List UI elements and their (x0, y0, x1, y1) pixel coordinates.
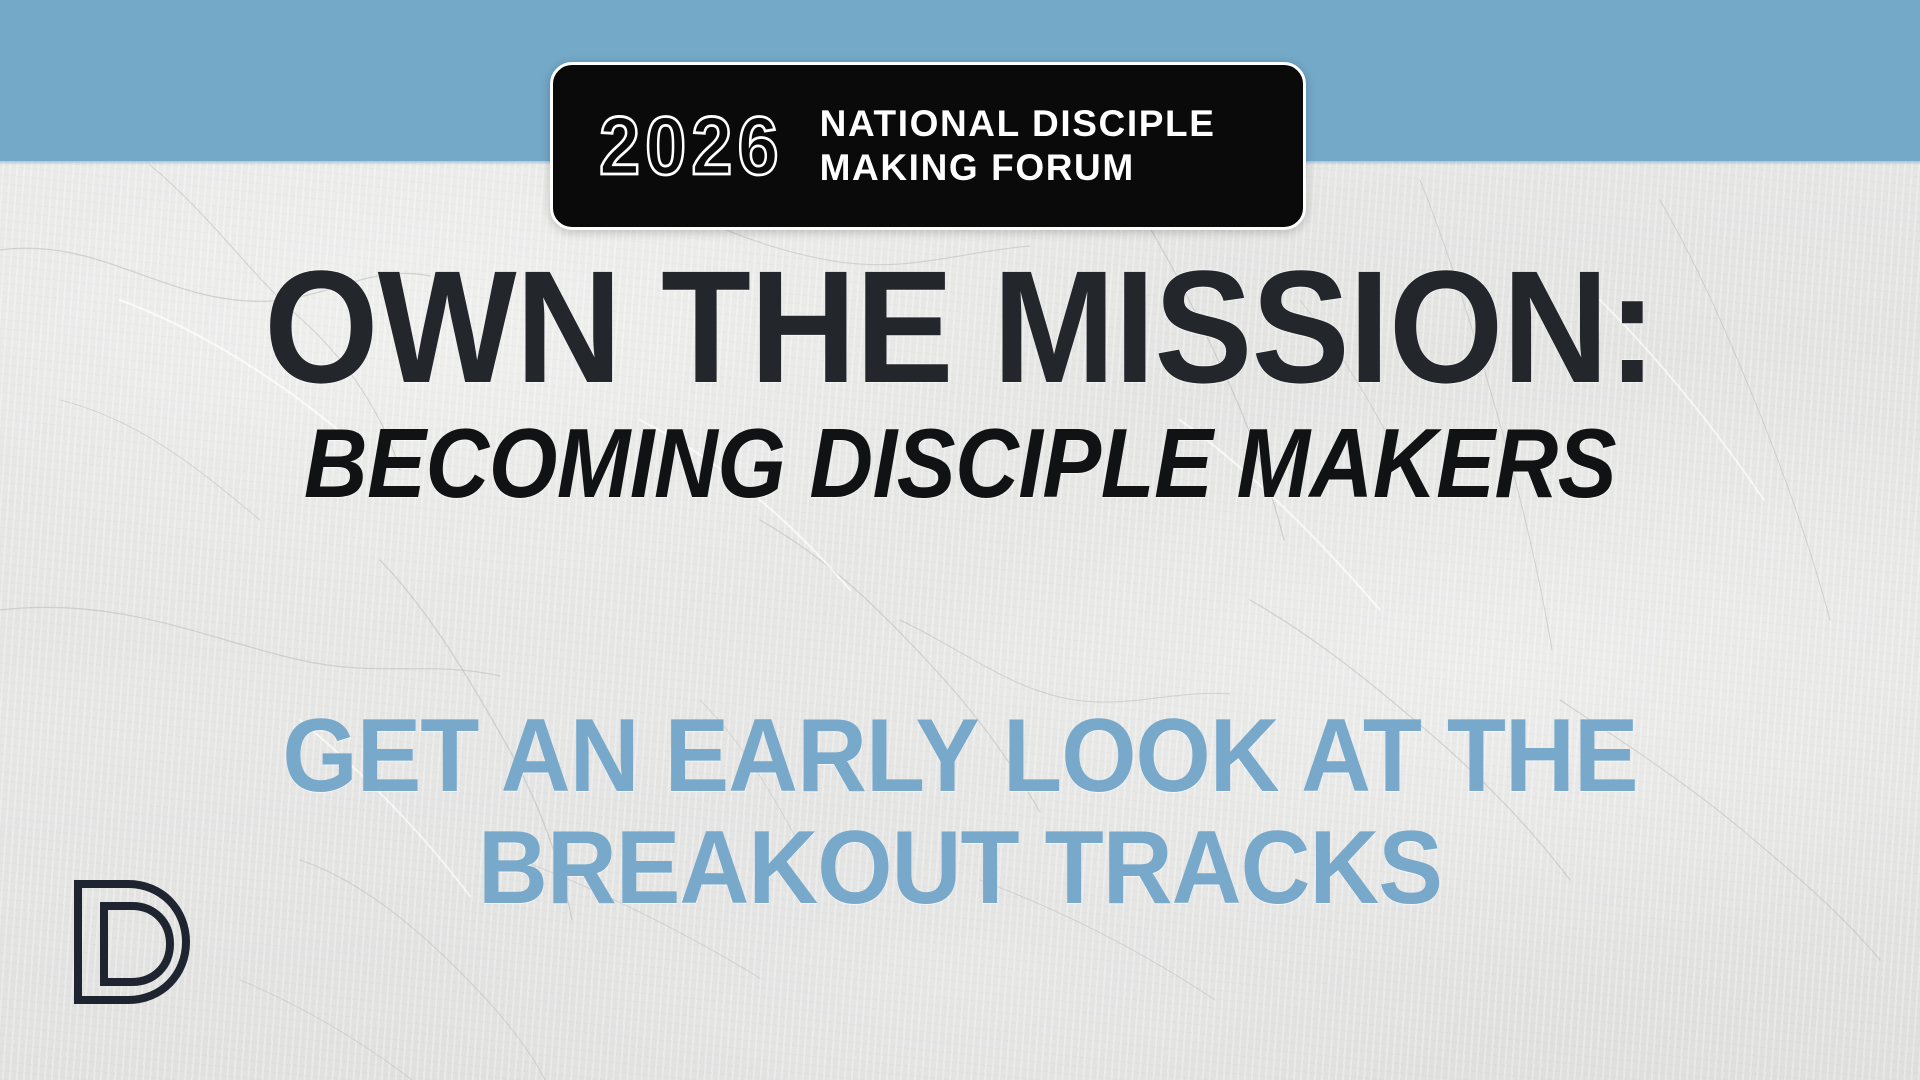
badge-event-name-line-2: MAKING FORUM (820, 146, 1216, 190)
cta-block: GET AN EARLY LOOK AT THE BREAKOUT TRACKS (0, 700, 1920, 925)
headline-main: OWN THE MISSION: (77, 250, 1843, 404)
headline-sub: BECOMING DISCIPLE MAKERS (96, 414, 1824, 512)
badge-event-name: NATIONAL DISCIPLE MAKING FORUM (820, 102, 1216, 189)
headline-block: OWN THE MISSION: BECOMING DISCIPLE MAKER… (0, 250, 1920, 512)
promo-poster: 2026 NATIONAL DISCIPLE MAKING FORUM OWN … (0, 0, 1920, 1080)
badge-event-name-line-1: NATIONAL DISCIPLE (820, 102, 1216, 146)
cta-line-2: BREAKOUT TRACKS (67, 812, 1853, 924)
cta-line-1: GET AN EARLY LOOK AT THE (67, 700, 1853, 812)
badge-year: 2026 (599, 105, 784, 188)
event-badge: 2026 NATIONAL DISCIPLE MAKING FORUM (550, 62, 1306, 230)
double-d-logo (58, 878, 198, 1028)
